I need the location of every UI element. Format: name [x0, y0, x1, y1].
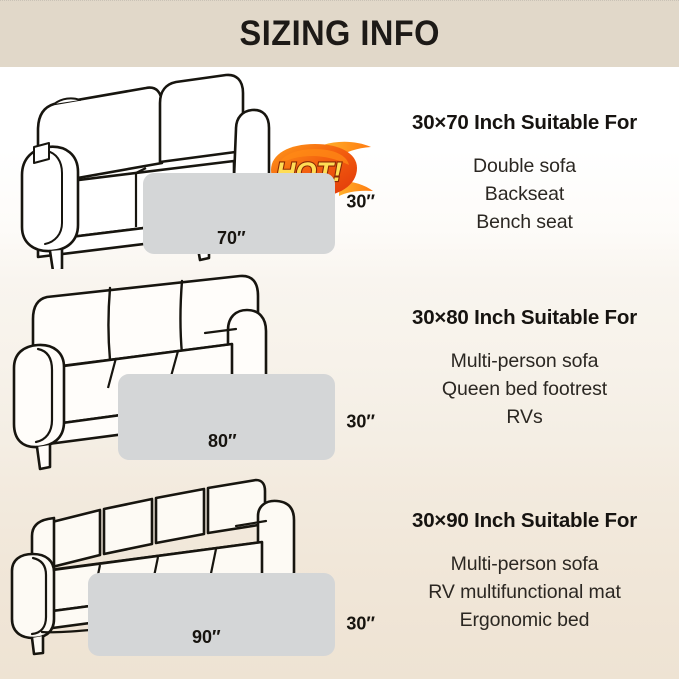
- page-title: SIZING INFO: [239, 14, 439, 54]
- use-item: RVs: [370, 403, 679, 431]
- size-text-block-30x80: 30×80 Inch Suitable For Multi-person sof…: [370, 306, 679, 431]
- size-row-30x80: 80″ 30″ 30×80 Inch Suitable For Multi-pe…: [0, 270, 679, 475]
- sizing-info-infographic: SIZING INFO: [0, 0, 679, 679]
- measure-rect-30x80: 80″ 30″: [118, 374, 335, 460]
- size-text-block-30x90: 30×90 Inch Suitable For Multi-person sof…: [370, 509, 679, 634]
- size-heading-30x70: 30×70 Inch Suitable For: [370, 111, 679, 135]
- width-label-90: 90″: [192, 627, 221, 648]
- row-divider-2: [0, 0, 679, 1]
- width-label-70: 70″: [217, 228, 246, 249]
- use-list-30x70: Double sofa Backseat Bench seat: [370, 152, 679, 236]
- size-heading-30x90: 30×90 Inch Suitable For: [370, 509, 679, 533]
- measure-rect-30x70: 70″ 30″: [143, 173, 335, 254]
- use-item: Multi-person sofa: [370, 347, 679, 375]
- size-text-block-30x70: 30×70 Inch Suitable For Double sofa Back…: [370, 111, 679, 236]
- size-row-30x70: HOT! 70″ 30″ 30×70 Inch Suitable For Dou…: [0, 67, 679, 269]
- use-list-30x80: Multi-person sofa Queen bed footrest RVs: [370, 347, 679, 431]
- use-item: Ergonomic bed: [370, 606, 679, 634]
- width-label-80: 80″: [208, 431, 237, 452]
- use-item: Multi-person sofa: [370, 550, 679, 578]
- use-item: Backseat: [370, 180, 679, 208]
- header-band: SIZING INFO: [0, 0, 679, 67]
- use-item: Queen bed footrest: [370, 375, 679, 403]
- use-item: Bench seat: [370, 208, 679, 236]
- use-item: Double sofa: [370, 152, 679, 180]
- size-heading-30x80: 30×80 Inch Suitable For: [370, 306, 679, 330]
- use-item: RV multifunctional mat: [370, 578, 679, 606]
- size-row-30x90: 90″ 30″ 30×90 Inch Suitable For Multi-pe…: [0, 476, 679, 679]
- use-list-30x90: Multi-person sofa RV multifunctional mat…: [370, 550, 679, 634]
- measure-rect-30x90: 90″ 30″: [88, 573, 335, 656]
